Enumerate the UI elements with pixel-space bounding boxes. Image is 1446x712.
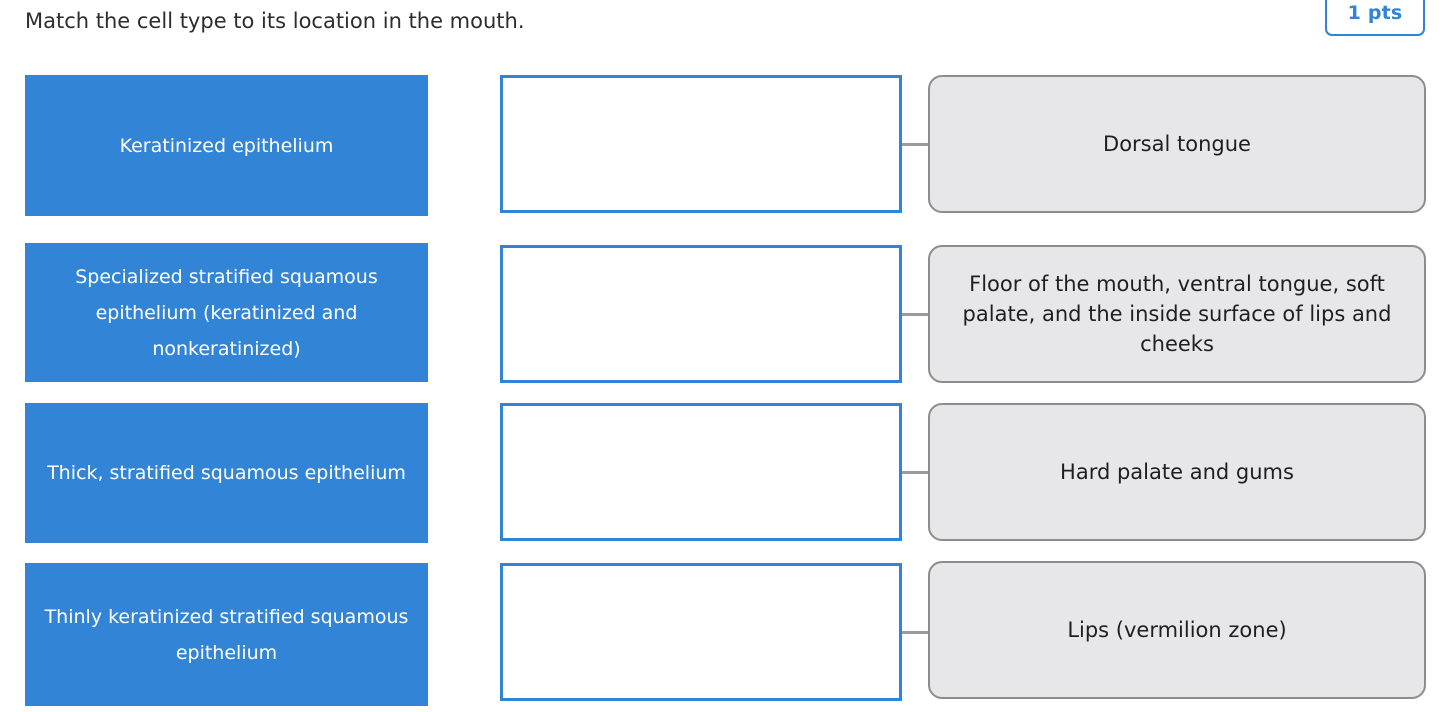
term-tile-label: Keratinized epithelium: [43, 128, 410, 164]
drop-zone-0[interactable]: [500, 75, 902, 213]
term-tile-label: Thinly keratinized stratified squamous e…: [43, 599, 410, 671]
term-tile-2[interactable]: Thick, stratified squamous epithelium: [25, 403, 428, 543]
answer-card-0: Dorsal tongue: [928, 75, 1426, 213]
term-tile-label: Specialized stratified squamous epitheli…: [43, 259, 410, 367]
drop-zone-1[interactable]: [500, 245, 902, 383]
answer-card-1: Floor of the mouth, ventral tongue, soft…: [928, 245, 1426, 383]
answer-card-label: Hard palate and gums: [954, 457, 1400, 487]
drop-zone-3[interactable]: [500, 563, 902, 701]
answer-card-label: Lips (vermilion zone): [954, 615, 1400, 645]
answer-card-2: Hard palate and gums: [928, 403, 1426, 541]
term-tile-1[interactable]: Specialized stratified squamous epitheli…: [25, 243, 428, 382]
answer-card-label: Dorsal tongue: [954, 129, 1400, 159]
connector-line-3: [902, 631, 928, 634]
connector-line-2: [902, 471, 928, 474]
answer-card-3: Lips (vermilion zone): [928, 561, 1426, 699]
drop-zone-2[interactable]: [500, 403, 902, 541]
matching-area: Keratinized epithelium Dorsal tongue Spe…: [0, 0, 1446, 712]
connector-line-1: [902, 313, 928, 316]
term-tile-0[interactable]: Keratinized epithelium: [25, 75, 428, 216]
connector-line-0: [902, 143, 928, 146]
term-tile-label: Thick, stratified squamous epithelium: [43, 455, 410, 491]
answer-card-label: Floor of the mouth, ventral tongue, soft…: [954, 269, 1400, 359]
term-tile-3[interactable]: Thinly keratinized stratified squamous e…: [25, 563, 428, 706]
